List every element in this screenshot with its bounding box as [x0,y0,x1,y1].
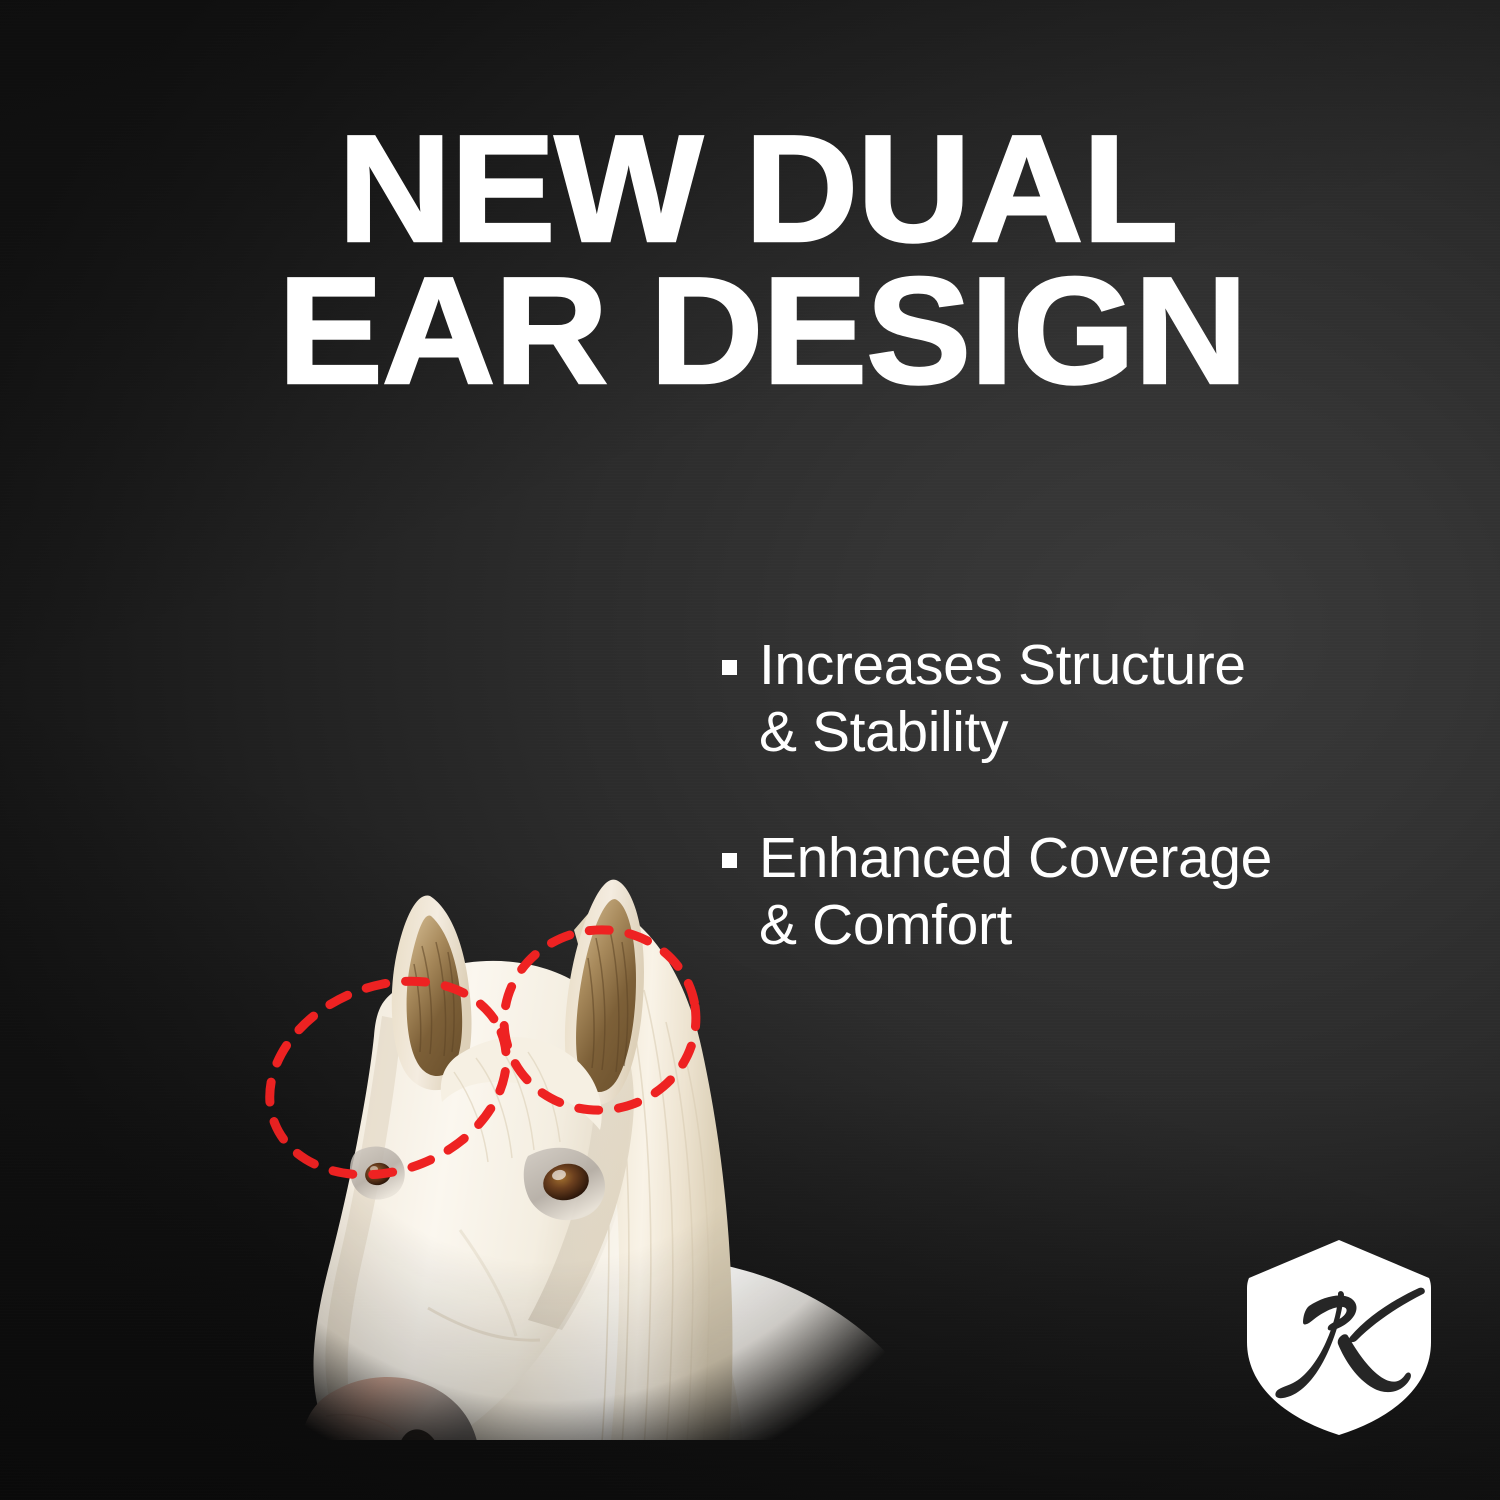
bullet-label: Enhanced Coverage & Comfort [759,825,1272,958]
headline-line-2: EAR DESIGN [278,260,1313,402]
bullet-label: Increases Structure & Stability [759,632,1246,765]
square-bullet-icon [722,853,737,868]
headline: NEW DUAL EAR DESIGN [278,118,1278,402]
list-item: Increases Structure & Stability [722,632,1422,765]
shield-shape [1247,1240,1431,1435]
shield-k-logo [1243,1238,1435,1438]
promo-image: NEW DUAL EAR DESIGN [0,0,1500,1500]
feature-bullet-list: Increases Structure & Stability Enhanced… [722,632,1422,1019]
headline-line-1: NEW DUAL [278,118,1313,260]
square-bullet-icon [722,660,737,675]
list-item: Enhanced Coverage & Comfort [722,825,1422,958]
